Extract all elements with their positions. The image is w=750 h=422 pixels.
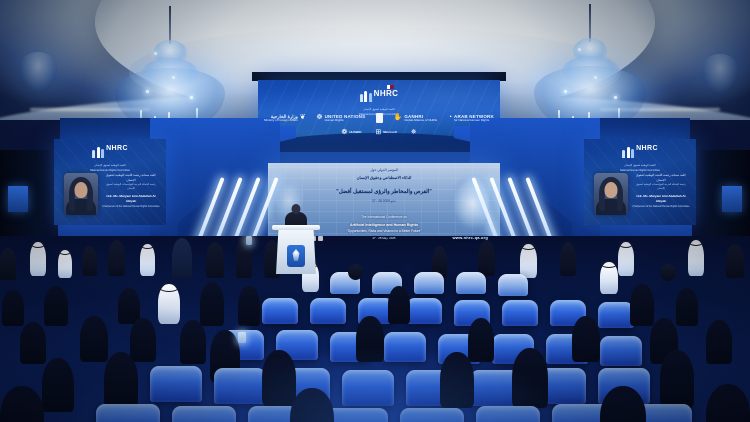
side-screen-left: NHRC اللجنة الوطنية لحقوق الإنسان Nation… <box>54 139 166 225</box>
huawei-label: HUAWEI <box>349 131 361 135</box>
attendee <box>572 316 600 362</box>
chandelier-rod <box>169 6 171 44</box>
attendee-head <box>348 264 363 280</box>
agal-icon <box>689 239 703 246</box>
attendee <box>104 352 138 408</box>
chandelier-sparkle <box>146 90 149 93</box>
screen-english-subtitle: "Opportunities, Risks and Visions for a … <box>309 229 459 234</box>
sponsor-sub-1: Human Rights <box>325 118 344 122</box>
attendee-suit <box>0 248 16 280</box>
chandelier-sparkle <box>578 48 581 51</box>
attendee <box>238 286 260 326</box>
attendee-head <box>660 264 676 281</box>
sponsor-logo-huawei: ❁ HUAWEI <box>341 129 361 136</box>
chair <box>400 408 464 422</box>
chandelier-left <box>110 6 230 134</box>
ganhri-logo-icon: ✋ <box>394 114 403 121</box>
speaker-arabic-title: كلمة سعادة رئيسة اللجنة الوطنية لحقوق ال… <box>102 173 160 182</box>
chandelier-sparkle <box>594 76 597 79</box>
chandelier-rod <box>589 4 591 42</box>
chair <box>150 366 202 402</box>
sponsor-logo-3: ✋ GANHRI Global Alliance of NHRIs <box>394 114 438 123</box>
huawei-logo-icon: ❁ <box>341 129 347 136</box>
chair <box>262 298 298 324</box>
nhrc-logo-side-right: NHRC اللجنة الوطنية لحقوق الإنسان Nation… <box>620 145 660 173</box>
speaker-head <box>292 204 301 214</box>
attendee-suit <box>560 242 576 276</box>
attendee-suit <box>726 244 744 278</box>
chair <box>384 332 426 362</box>
speaker-info-left: كلمة سعادة رئيسة اللجنة الوطنية لحقوق ال… <box>102 173 160 208</box>
sponsor-sub-3: Global Alliance of NHRIs <box>404 118 437 122</box>
chandelier-sparkle <box>614 96 617 99</box>
sponsor-logo-0: وزارة الخارجية Ministry of Foreign Affai… <box>264 114 306 123</box>
attendee <box>262 350 296 406</box>
screen-english-title: Artificial Intelligence and Human Rights <box>309 223 459 228</box>
attendee <box>388 286 410 324</box>
attendee <box>118 288 140 324</box>
un-logo-icon: ☸ <box>316 114 322 121</box>
agal-icon <box>59 249 71 255</box>
speaker-name: H.E. Ms. Maryam bint Abdullah Al Attiyah <box>632 194 690 203</box>
qatar-foundation-logo-icon: ✵ <box>411 129 417 136</box>
chair <box>214 368 266 404</box>
chair <box>406 298 442 324</box>
portrait-face <box>605 182 618 198</box>
screen-website-url: www.nhrc-qa.org <box>452 235 488 240</box>
nhrc-logo-side-left: NHRC اللجنة الوطنية لحقوق الإنسان Nation… <box>90 145 130 173</box>
chair <box>414 272 444 294</box>
nhrc-acronym: NHRC <box>636 145 658 152</box>
screen-english-date: 27 - 28 May, 2025 <box>309 236 459 241</box>
chair <box>598 302 634 328</box>
attendee <box>180 320 206 364</box>
attendee <box>2 290 24 326</box>
ohchr-logo-icon <box>376 113 383 123</box>
chandelier-sparkle <box>190 96 193 99</box>
attendee <box>44 286 68 326</box>
chair <box>502 300 538 326</box>
nhrc-arabic-line-1: اللجنة الوطنية لحقوق الإنسان <box>620 164 660 168</box>
attendee <box>706 320 732 364</box>
attendee-suit <box>478 240 495 276</box>
sponsor-row-primary: وزارة الخارجية Ministry of Foreign Affai… <box>264 113 494 123</box>
sponsor-logo-4: ◔ ARAB NETWORK for National Human Rights <box>448 114 494 123</box>
microsoft-logo-icon: ⊞ <box>375 129 381 136</box>
camera-screen-glow <box>246 236 252 245</box>
agal-icon <box>31 241 45 248</box>
speaker-arabic-sub: رئيسة الشبكة العربية للمؤسسات الوطنية لح… <box>632 183 690 191</box>
sponsor-logo-2 <box>376 113 383 123</box>
screen-arabic-title: الذكاء الاصطناعي وحقوق الإنسان <box>309 175 459 181</box>
chair <box>498 274 528 296</box>
speaker-info-right: كلمة سعادة رئيسة اللجنة الوطنية لحقوق ال… <box>632 173 690 208</box>
podium-top-surface <box>272 225 320 230</box>
nhrc-acronym: NHRC <box>374 89 399 98</box>
aux-display-right <box>722 186 742 212</box>
attendee <box>20 322 46 364</box>
screen-arabic-date: 27 - 28 مايو 2025 <box>309 199 459 204</box>
attendee <box>660 350 694 408</box>
ministry-logo-icon: ❦ <box>300 114 306 121</box>
speaker-arabic-sub: رئيسة الشبكة العربية للمؤسسات الوطنية لح… <box>102 183 160 191</box>
screen-english-kicker: The International Conference on <box>309 215 459 220</box>
nhrc-arabic-line-1: اللجنة الوطنية لحقوق الإنسان <box>90 164 130 168</box>
chair <box>96 404 160 422</box>
agal-icon <box>141 243 154 249</box>
conference-hall-scene: NHRC اللجنة الوطنية لحقوق الإنسان Nation… <box>0 0 750 422</box>
agal-icon <box>521 243 536 250</box>
nhrc-mark-icon <box>360 91 372 102</box>
chandelier-sparkle <box>154 52 157 55</box>
attendee-suit <box>108 240 125 276</box>
attendee-suit <box>172 238 192 278</box>
speaker-portrait-left <box>64 173 98 215</box>
sponsor-row-secondary: ❁ HUAWEI ⊞ Microsoft ✵ <box>296 129 462 136</box>
nhrc-arabic-line-1: اللجنة الوطنية لحقوق الإنسان <box>359 108 399 112</box>
aux-display-left <box>8 186 28 212</box>
speaker-portrait-right <box>594 173 628 215</box>
agal-icon <box>601 261 617 268</box>
screen-arabic-kicker: المؤتمر الدولي حول <box>309 168 459 172</box>
screen-arabic-subtitle: "الفرص والمخاطر والرؤى لمستقبل أفضل" <box>309 189 459 195</box>
podium <box>276 230 316 274</box>
qatar-flag-icon <box>387 85 394 89</box>
chandelier-sparkle <box>172 76 175 79</box>
speaker-name: H.E. Ms. Maryam bint Abdullah Al Attiyah <box>102 194 160 203</box>
attendee <box>130 318 156 362</box>
chandelier-sparkle <box>564 90 567 93</box>
top-led-banner-screen: NHRC اللجنة الوطنية لحقوق الإنسان Nation… <box>258 80 500 152</box>
chandelier-right <box>530 4 650 132</box>
chair <box>600 336 642 366</box>
chandelier-far-left <box>18 42 58 102</box>
attendee <box>440 352 474 408</box>
side-screen-right: NHRC اللجنة الوطنية لحقوق الإنسان Nation… <box>584 139 696 225</box>
audience-area <box>0 236 750 422</box>
agal-icon <box>159 283 179 292</box>
sponsor-logo-qf: ✵ <box>411 129 417 136</box>
attendee <box>200 282 224 326</box>
attendee <box>42 358 74 412</box>
agal-icon <box>619 241 633 248</box>
portrait-face <box>75 182 88 198</box>
attendee <box>512 348 548 408</box>
chair <box>172 406 236 422</box>
attendee <box>676 288 698 326</box>
speaker-arabic-title: كلمة سعادة رئيسة اللجنة الوطنية لحقوق ال… <box>632 173 690 182</box>
chair <box>310 298 346 324</box>
chair <box>476 406 540 422</box>
attendee-suit <box>206 242 224 278</box>
chandelier-far-right <box>700 44 740 104</box>
attendee <box>630 284 654 326</box>
attendee <box>80 316 108 362</box>
phone-screen-glow <box>238 332 246 343</box>
sponsor-sub-4: for National Human Rights <box>454 118 489 122</box>
sponsor-logo-microsoft: ⊞ Microsoft <box>375 129 396 136</box>
speaker-role: Chairperson of the National Human Rights… <box>102 205 160 209</box>
sponsor-sub-0: Ministry of Foreign Affairs <box>264 118 298 122</box>
attendee-suit <box>82 246 97 276</box>
microsoft-label: Microsoft <box>383 131 397 135</box>
nhrc-mark-icon <box>92 147 104 158</box>
chandelier-body <box>19 52 57 92</box>
sponsor-logo-1: ☸ UNITED NATIONS Human Rights <box>316 114 365 123</box>
podium-area <box>268 196 324 274</box>
attendee <box>356 316 384 362</box>
chair <box>342 370 394 406</box>
podium-emblem-icon <box>287 245 305 267</box>
nhrc-acronym: NHRC <box>106 145 128 152</box>
chair <box>456 272 486 294</box>
speaker-role: Chairperson of the National Human Rights… <box>632 205 690 209</box>
chandelier-body <box>701 54 739 94</box>
attendee <box>468 318 494 362</box>
arab-network-logo-icon: ◔ <box>448 114 452 121</box>
nhrc-mark-icon <box>622 147 634 158</box>
